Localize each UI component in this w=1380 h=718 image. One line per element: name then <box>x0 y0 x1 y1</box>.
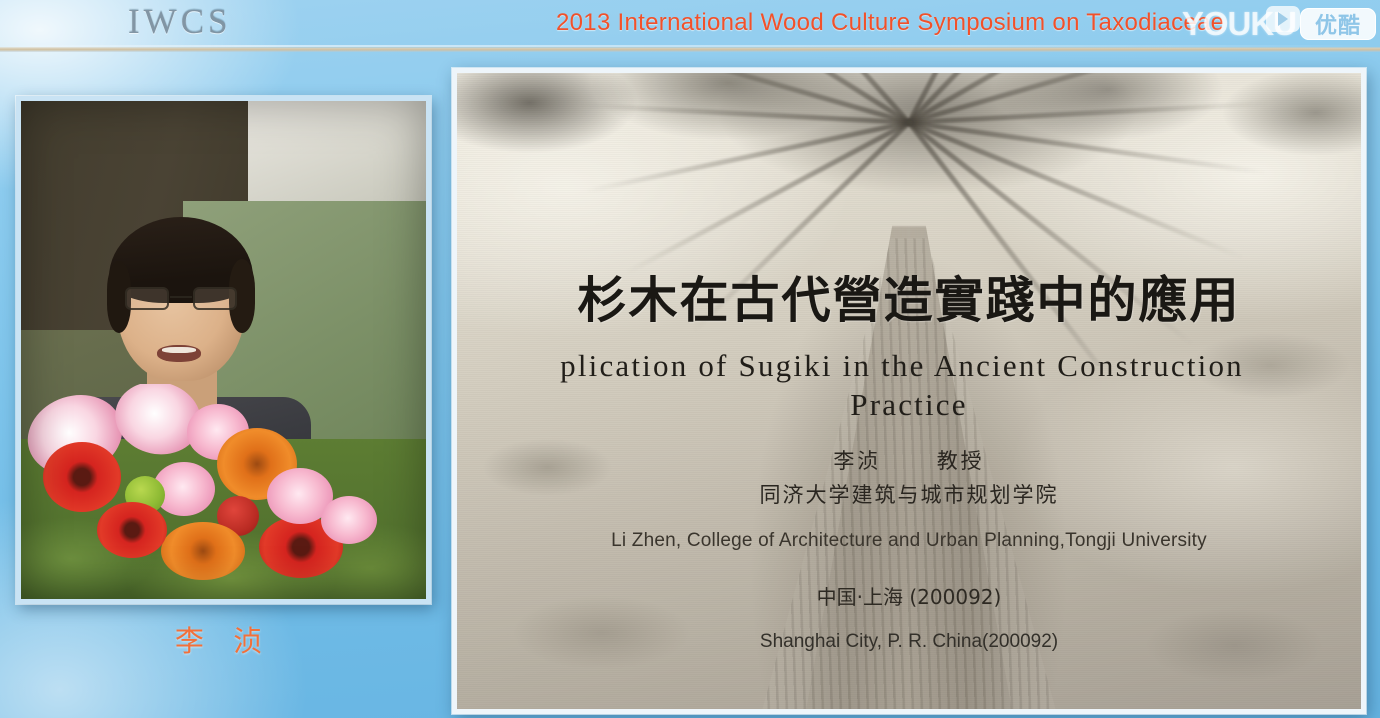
eyeglass-lens-right <box>193 287 237 310</box>
slide-affiliation-chinese: 同济大学建筑与城市规划学院 <box>457 479 1361 509</box>
speaker-name-caption: 李 浈 <box>16 618 431 660</box>
speaker-video-frame[interactable] <box>16 96 431 604</box>
speaker-mouth <box>157 345 201 362</box>
gerbera-red <box>97 502 167 558</box>
youku-watermark: YOUKU 优酷 <box>1182 0 1376 48</box>
eyeglasses-icon <box>125 287 237 311</box>
play-triangle-icon <box>1266 6 1300 32</box>
slide-city-english: Shanghai City, P. R. China(200092) <box>457 631 1361 653</box>
symposium-title: 2013 International Wood Culture Symposiu… <box>556 9 1224 37</box>
slide-title-english-line2: Practice <box>457 387 1361 423</box>
slide-affiliation-english: Li Zhen, College of Architecture and Urb… <box>457 530 1361 552</box>
video-player-stage: IWCS 2013 International Wood Culture Sym… <box>0 0 1380 718</box>
eyeglass-lens-left <box>125 287 169 310</box>
gerbera-red <box>43 442 121 512</box>
youku-logo-text: 优酷 <box>1315 8 1361 40</box>
slide-title-english-line1: plication of Sugiki in the Ancient Const… <box>457 345 1361 387</box>
eyeglass-bridge <box>170 296 192 298</box>
broadcast-header: IWCS 2013 International Wood Culture Sym… <box>0 0 1380 49</box>
header-divider <box>0 47 1380 52</box>
carnation-flower <box>321 496 377 544</box>
author-title-chinese: 教授 <box>937 449 985 473</box>
slide-text-layer: 杉木在古代營造實踐中的應用 plication of Sugiki in the… <box>457 73 1361 709</box>
slide-frame[interactable]: 杉木在古代營造實踐中的應用 plication of Sugiki in the… <box>452 68 1366 714</box>
youku-logo-badge: 优酷 <box>1300 8 1376 40</box>
slide-author-chinese: 李浈 教授 <box>457 445 1361 475</box>
speaker-video[interactable] <box>21 101 426 599</box>
floral-arrangement <box>21 384 426 599</box>
presentation-slide[interactable]: 杉木在古代營造實踐中的應用 plication of Sugiki in the… <box>457 73 1361 709</box>
author-name-chinese: 李浈 <box>833 449 881 473</box>
gerbera-orange <box>161 522 245 580</box>
slide-city-chinese: 中国·上海 (200092) <box>457 581 1361 610</box>
iwcs-logo: IWCS <box>128 2 232 42</box>
slide-title-chinese: 杉木在古代營造實踐中的應用 <box>457 261 1361 332</box>
